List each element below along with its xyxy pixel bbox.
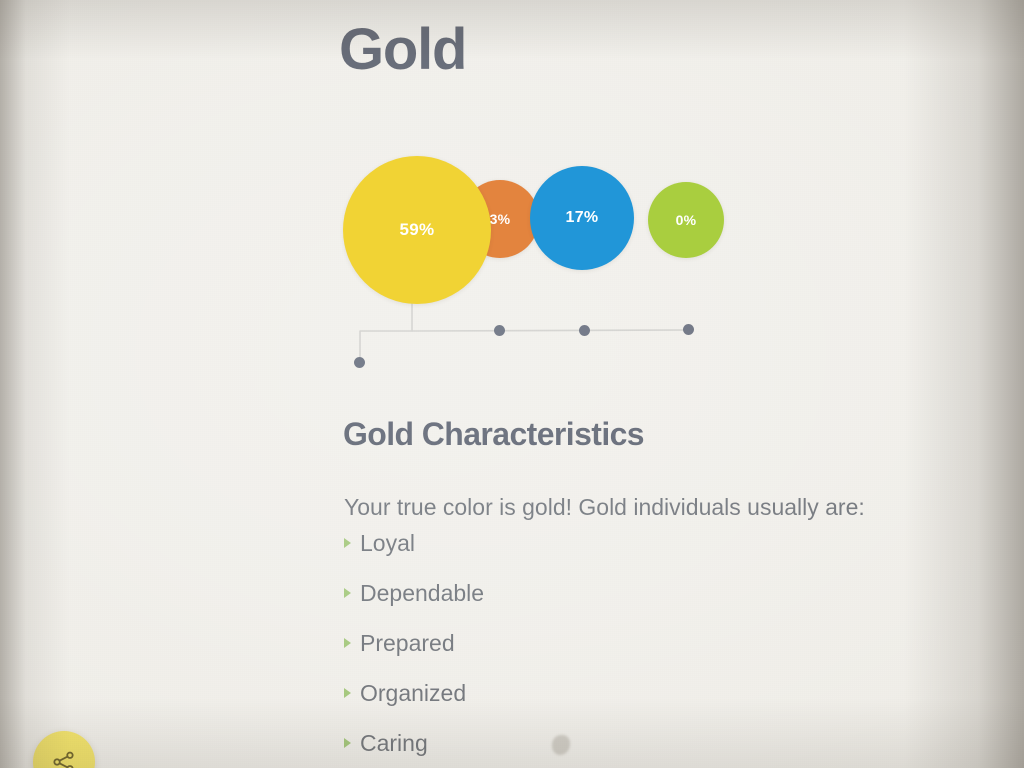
green-bubble[interactable]: 0% xyxy=(648,182,724,258)
list-item: Caring xyxy=(344,727,824,768)
page-title: Gold xyxy=(339,21,466,79)
share-icon xyxy=(51,749,77,768)
triangle-bullet-icon xyxy=(344,588,351,598)
screen-photo: Gold 59% 3% 17% 0% xyxy=(0,0,1024,768)
share-button[interactable] xyxy=(33,731,95,768)
app-content: Gold 59% 3% 17% 0% xyxy=(0,0,1024,768)
connector-line xyxy=(330,295,730,385)
characteristics-list: Loyal Dependable Prepared Organized Cari… xyxy=(344,527,824,768)
list-item-label: Caring xyxy=(360,730,428,756)
triangle-bullet-icon xyxy=(344,738,351,748)
list-item-label: Organized xyxy=(360,680,466,706)
step-dot-4[interactable] xyxy=(683,324,694,335)
green-bubble-label: 0% xyxy=(676,212,697,228)
list-item: Organized xyxy=(344,677,824,727)
list-item: Prepared xyxy=(344,627,824,677)
triangle-bullet-icon xyxy=(344,638,351,648)
step-dot-2[interactable] xyxy=(494,325,505,336)
progress-connector xyxy=(330,295,730,390)
step-dot-3[interactable] xyxy=(579,325,590,336)
gold-bubble-label: 59% xyxy=(400,220,435,240)
list-item-label: Loyal xyxy=(360,530,415,556)
triangle-bullet-icon xyxy=(344,538,351,548)
list-item: Loyal xyxy=(344,527,824,577)
list-item-label: Prepared xyxy=(360,630,455,656)
triangle-bullet-icon xyxy=(344,688,351,698)
step-dot-active[interactable] xyxy=(354,357,365,368)
gold-bubble[interactable]: 59% xyxy=(343,156,491,304)
characteristics-intro: Your true color is gold! Gold individual… xyxy=(344,494,865,521)
characteristics-heading: Gold Characteristics xyxy=(343,416,644,453)
blue-bubble-label: 17% xyxy=(566,209,599,227)
blue-bubble[interactable]: 17% xyxy=(530,166,634,270)
list-item: Dependable xyxy=(344,577,824,627)
orange-bubble-label: 3% xyxy=(490,211,511,227)
list-item-label: Dependable xyxy=(360,580,484,606)
